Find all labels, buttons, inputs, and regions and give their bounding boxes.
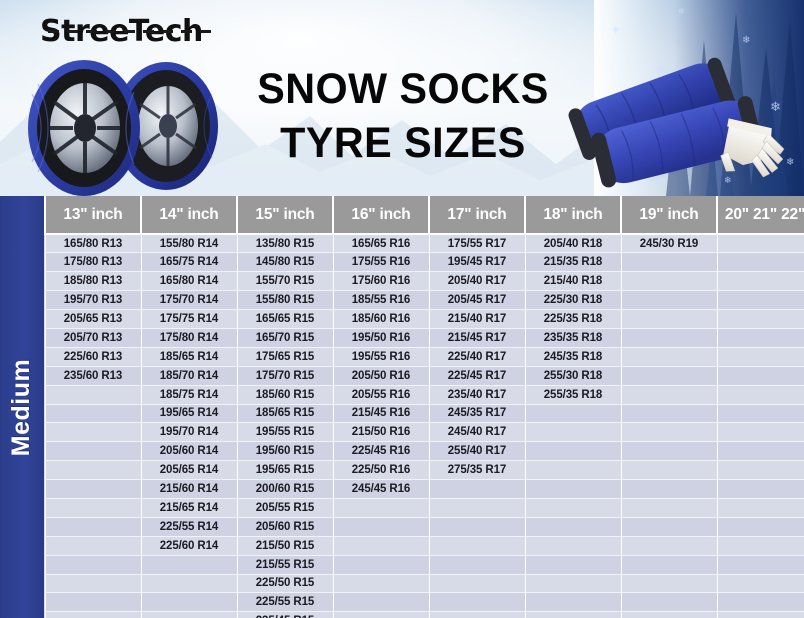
- empty-cell: [621, 253, 717, 272]
- empty-cell: [525, 574, 621, 593]
- tyre-size-cell: 185/65 R14: [141, 347, 237, 366]
- table-row: 235/60 R13185/70 R14175/70 R15205/50 R16…: [45, 366, 804, 385]
- category-sidebar: Medium: [0, 196, 44, 618]
- tyre-size-cell: 225/45 R17: [429, 366, 525, 385]
- table-header-row: 13" inch 14" inch 15" inch 16" inch 17" …: [45, 196, 804, 234]
- empty-cell: [717, 593, 804, 612]
- tyre-size-cell: 185/60 R15: [237, 385, 333, 404]
- empty-cell: [333, 574, 429, 593]
- tyre-size-cell: 185/70 R14: [141, 366, 237, 385]
- tyre-size-cell: 225/55 R14: [141, 517, 237, 536]
- tyre-size-cell: 205/60 R15: [237, 517, 333, 536]
- empty-cell: [717, 442, 804, 461]
- title-line-1: SNOW SOCKS: [245, 62, 562, 116]
- tyre-size-cell: 165/80 R14: [141, 272, 237, 291]
- tyre-size-cell: 185/80 R13: [45, 272, 141, 291]
- tyre-size-cell: 195/70 R13: [45, 291, 141, 310]
- tyre-size-cell: 215/65 R14: [141, 498, 237, 517]
- table-row: 225/60 R14215/50 R15: [45, 536, 804, 555]
- column-header-14: 14" inch: [141, 196, 237, 234]
- empty-cell: [141, 593, 237, 612]
- empty-cell: [717, 498, 804, 517]
- tyre-size-cell: 225/50 R16: [333, 461, 429, 480]
- empty-cell: [621, 498, 717, 517]
- empty-cell: [525, 593, 621, 612]
- tyre-size-cell: 205/65 R14: [141, 461, 237, 480]
- tyre-size-cell: 185/75 R14: [141, 385, 237, 404]
- empty-cell: [429, 536, 525, 555]
- sidebar-label: Medium: [0, 196, 44, 618]
- empty-cell: [717, 234, 804, 253]
- empty-cell: [45, 517, 141, 536]
- tyre-size-cell: 165/80 R13: [45, 234, 141, 253]
- empty-cell: [621, 461, 717, 480]
- tyre-size-cell: 215/60 R14: [141, 480, 237, 499]
- empty-cell: [621, 536, 717, 555]
- empty-cell: [621, 272, 717, 291]
- empty-cell: [621, 366, 717, 385]
- empty-cell: [621, 404, 717, 423]
- tyre-size-cell: 155/80 R15: [237, 291, 333, 310]
- tyre-size-cell: 175/55 R16: [333, 253, 429, 272]
- empty-cell: [525, 612, 621, 618]
- empty-cell: [621, 574, 717, 593]
- empty-cell: [333, 498, 429, 517]
- tyre-size-cell: 195/70 R14: [141, 423, 237, 442]
- table-row: 205/70 R13175/80 R14165/70 R15195/50 R16…: [45, 328, 804, 347]
- empty-cell: [333, 593, 429, 612]
- tyre-size-cell: 215/40 R17: [429, 310, 525, 329]
- empty-cell: [717, 423, 804, 442]
- empty-cell: [45, 498, 141, 517]
- empty-cell: [429, 517, 525, 536]
- tyre-size-cell: 205/70 R13: [45, 328, 141, 347]
- tyre-size-cell: 225/50 R15: [237, 574, 333, 593]
- tyre-size-cell: 175/80 R14: [141, 328, 237, 347]
- tyre-size-table: 13" inch 14" inch 15" inch 16" inch 17" …: [44, 196, 804, 618]
- empty-cell: [429, 498, 525, 517]
- tyre-size-cell: 245/35 R18: [525, 347, 621, 366]
- brand-logo: StreeTech: [40, 14, 203, 49]
- tyre-size-cell: 165/70 R15: [237, 328, 333, 347]
- empty-cell: [45, 574, 141, 593]
- empty-cell: [525, 480, 621, 499]
- tyre-size-cell: 245/30 R19: [621, 234, 717, 253]
- empty-cell: [621, 593, 717, 612]
- table-row: 195/65 R14185/65 R15215/45 R16245/35 R17: [45, 404, 804, 423]
- tyre-size-cell: 195/65 R15: [237, 461, 333, 480]
- tyre-size-cell: 185/55 R16: [333, 291, 429, 310]
- empty-cell: [717, 404, 804, 423]
- hero-banner: ❄ ❄ ❄ ❄ ❄ ❄ ❄ ❄ ❄ StreeTech SNOW SOCKS T…: [0, 0, 804, 196]
- empty-cell: [717, 555, 804, 574]
- table-row: 235/45 R15: [45, 612, 804, 618]
- table-row: 195/70 R13175/70 R14155/80 R15185/55 R16…: [45, 291, 804, 310]
- empty-cell: [621, 612, 717, 618]
- tyre-size-cell: 195/60 R15: [237, 442, 333, 461]
- table-row: 175/80 R13165/75 R14145/80 R15175/55 R16…: [45, 253, 804, 272]
- table-row: 215/55 R15: [45, 555, 804, 574]
- tyre-size-cell: 215/45 R17: [429, 328, 525, 347]
- tyre-size-cell: 235/45 R15: [237, 612, 333, 618]
- tyre-size-cell: 215/50 R16: [333, 423, 429, 442]
- tyre-size-cell: 275/35 R17: [429, 461, 525, 480]
- empty-cell: [717, 574, 804, 593]
- tyre-size-cell: 215/45 R16: [333, 404, 429, 423]
- tyre-size-cell: 145/80 R15: [237, 253, 333, 272]
- empty-cell: [45, 385, 141, 404]
- empty-cell: [717, 612, 804, 618]
- tyre-size-cell: 195/45 R17: [429, 253, 525, 272]
- empty-cell: [45, 423, 141, 442]
- tyre-size-cell: 255/40 R17: [429, 442, 525, 461]
- empty-cell: [717, 347, 804, 366]
- empty-cell: [45, 593, 141, 612]
- table-row: 185/75 R14185/60 R15205/55 R16235/40 R17…: [45, 385, 804, 404]
- empty-cell: [429, 612, 525, 618]
- empty-cell: [717, 480, 804, 499]
- tyre-size-cell: 225/55 R15: [237, 593, 333, 612]
- tyre-size-cell: 235/60 R13: [45, 366, 141, 385]
- empty-cell: [717, 310, 804, 329]
- empty-cell: [429, 480, 525, 499]
- empty-cell: [45, 442, 141, 461]
- tyre-size-cell: 175/75 R14: [141, 310, 237, 329]
- tyre-size-cell: 195/65 R14: [141, 404, 237, 423]
- empty-cell: [525, 536, 621, 555]
- table-row: 225/55 R14205/60 R15: [45, 517, 804, 536]
- empty-cell: [525, 461, 621, 480]
- empty-cell: [717, 328, 804, 347]
- table-row: 195/70 R14195/55 R15215/50 R16245/40 R17: [45, 423, 804, 442]
- tyre-size-cell: 185/60 R16: [333, 310, 429, 329]
- empty-cell: [45, 461, 141, 480]
- empty-cell: [621, 423, 717, 442]
- column-header-19: 19" inch: [621, 196, 717, 234]
- tyre-size-cell: 215/40 R18: [525, 272, 621, 291]
- empty-cell: [621, 328, 717, 347]
- tyre-size-cell: 205/40 R17: [429, 272, 525, 291]
- tyre-size-cell: 165/65 R15: [237, 310, 333, 329]
- tyre-size-cell: 225/40 R17: [429, 347, 525, 366]
- tyre-size-cell: 205/55 R15: [237, 498, 333, 517]
- empty-cell: [621, 385, 717, 404]
- empty-cell: [717, 366, 804, 385]
- tyre-snow-sock-image: [18, 60, 268, 196]
- empty-cell: [621, 310, 717, 329]
- empty-cell: [429, 555, 525, 574]
- column-header-16: 16" inch: [333, 196, 429, 234]
- empty-cell: [717, 536, 804, 555]
- tyre-size-cell: 255/30 R18: [525, 366, 621, 385]
- empty-cell: [525, 517, 621, 536]
- empty-cell: [141, 574, 237, 593]
- column-header-20-21-22: 20" 21" 22": [717, 196, 804, 234]
- column-header-18: 18" inch: [525, 196, 621, 234]
- tyre-size-cell: 205/55 R16: [333, 385, 429, 404]
- tyre-size-cell: 245/35 R17: [429, 404, 525, 423]
- table-body: 165/80 R13155/80 R14135/80 R15165/65 R16…: [45, 234, 804, 618]
- empty-cell: [525, 555, 621, 574]
- empty-cell: [621, 442, 717, 461]
- empty-cell: [45, 404, 141, 423]
- tyre-size-cell: 135/80 R15: [237, 234, 333, 253]
- tyre-size-cell: 235/35 R18: [525, 328, 621, 347]
- table-row: 215/60 R14200/60 R15245/45 R16: [45, 480, 804, 499]
- empty-cell: [717, 385, 804, 404]
- empty-cell: [525, 404, 621, 423]
- title-line-2: TYRE SIZES: [245, 116, 562, 170]
- tyre-size-cell: 185/65 R15: [237, 404, 333, 423]
- empty-cell: [621, 555, 717, 574]
- tyre-size-cell: 155/80 R14: [141, 234, 237, 253]
- tyre-size-cell: 200/60 R15: [237, 480, 333, 499]
- tyre-size-cell: 205/40 R18: [525, 234, 621, 253]
- tyre-size-cell: 245/45 R16: [333, 480, 429, 499]
- tyre-size-table-container: 13" inch 14" inch 15" inch 16" inch 17" …: [44, 196, 804, 618]
- table-row: 205/65 R14195/65 R15225/50 R16275/35 R17: [45, 461, 804, 480]
- tyre-size-cell: 205/50 R16: [333, 366, 429, 385]
- empty-cell: [429, 574, 525, 593]
- tyre-size-cell: 175/55 R17: [429, 234, 525, 253]
- sidebar-label-text: Medium: [8, 358, 37, 455]
- empty-cell: [333, 555, 429, 574]
- empty-cell: [621, 291, 717, 310]
- tyre-size-cell: 225/45 R16: [333, 442, 429, 461]
- tyre-size-cell: 215/55 R15: [237, 555, 333, 574]
- empty-cell: [525, 442, 621, 461]
- road-dashes-icon: [48, 30, 216, 33]
- empty-cell: [717, 461, 804, 480]
- empty-cell: [621, 480, 717, 499]
- empty-cell: [717, 272, 804, 291]
- tyre-size-cell: 165/65 R16: [333, 234, 429, 253]
- empty-cell: [717, 517, 804, 536]
- tyre-size-cell: 175/60 R16: [333, 272, 429, 291]
- table-row: 165/80 R13155/80 R14135/80 R15165/65 R16…: [45, 234, 804, 253]
- table-row: 225/50 R15: [45, 574, 804, 593]
- infographic-page: ❄ ❄ ❄ ❄ ❄ ❄ ❄ ❄ ❄ StreeTech SNOW SOCKS T…: [0, 0, 804, 618]
- tyre-size-cell: 195/55 R16: [333, 347, 429, 366]
- tyre-size-cell: 225/35 R18: [525, 310, 621, 329]
- table-row: 225/55 R15: [45, 593, 804, 612]
- tyre-size-cell: 245/40 R17: [429, 423, 525, 442]
- empty-cell: [621, 347, 717, 366]
- tyre-size-cell: 225/60 R14: [141, 536, 237, 555]
- page-title: SNOW SOCKS TYRE SIZES: [238, 62, 568, 170]
- empty-cell: [333, 517, 429, 536]
- empty-cell: [333, 536, 429, 555]
- tyre-size-cell: 195/50 R16: [333, 328, 429, 347]
- tyre-size-cell: 195/55 R15: [237, 423, 333, 442]
- column-header-15: 15" inch: [237, 196, 333, 234]
- tyre-size-cell: 175/70 R14: [141, 291, 237, 310]
- table-row: 185/80 R13165/80 R14155/70 R15175/60 R16…: [45, 272, 804, 291]
- empty-cell: [45, 480, 141, 499]
- table-row: 215/65 R14205/55 R15: [45, 498, 804, 517]
- empty-cell: [621, 517, 717, 536]
- table-row: 205/60 R14195/60 R15225/45 R16255/40 R17: [45, 442, 804, 461]
- column-header-13: 13" inch: [45, 196, 141, 234]
- tyre-size-cell: 255/35 R18: [525, 385, 621, 404]
- tyre-size-cell: 235/40 R17: [429, 385, 525, 404]
- tyre-size-cell: 205/45 R17: [429, 291, 525, 310]
- tyre-size-cell: 225/30 R18: [525, 291, 621, 310]
- tyre-size-cell: 175/80 R13: [45, 253, 141, 272]
- tyre-size-cell: 165/75 R14: [141, 253, 237, 272]
- empty-cell: [45, 555, 141, 574]
- tyre-size-cell: 175/65 R15: [237, 347, 333, 366]
- tyre-size-cell: 225/60 R13: [45, 347, 141, 366]
- snow-socks-package-image: [556, 52, 804, 196]
- tyre-size-cell: 155/70 R15: [237, 272, 333, 291]
- tyre-size-cell: 215/50 R15: [237, 536, 333, 555]
- table-row: 205/65 R13175/75 R14165/65 R15185/60 R16…: [45, 310, 804, 329]
- empty-cell: [141, 555, 237, 574]
- empty-cell: [717, 253, 804, 272]
- empty-cell: [333, 612, 429, 618]
- empty-cell: [717, 291, 804, 310]
- empty-cell: [141, 612, 237, 618]
- tyre-size-cell: 205/60 R14: [141, 442, 237, 461]
- empty-cell: [429, 593, 525, 612]
- empty-cell: [525, 423, 621, 442]
- empty-cell: [525, 498, 621, 517]
- table-row: 225/60 R13185/65 R14175/65 R15195/55 R16…: [45, 347, 804, 366]
- tyre-size-cell: 215/35 R18: [525, 253, 621, 272]
- tyre-size-cell: 175/70 R15: [237, 366, 333, 385]
- tyre-size-cell: 205/65 R13: [45, 310, 141, 329]
- empty-cell: [45, 536, 141, 555]
- empty-cell: [45, 612, 141, 618]
- column-header-17: 17" inch: [429, 196, 525, 234]
